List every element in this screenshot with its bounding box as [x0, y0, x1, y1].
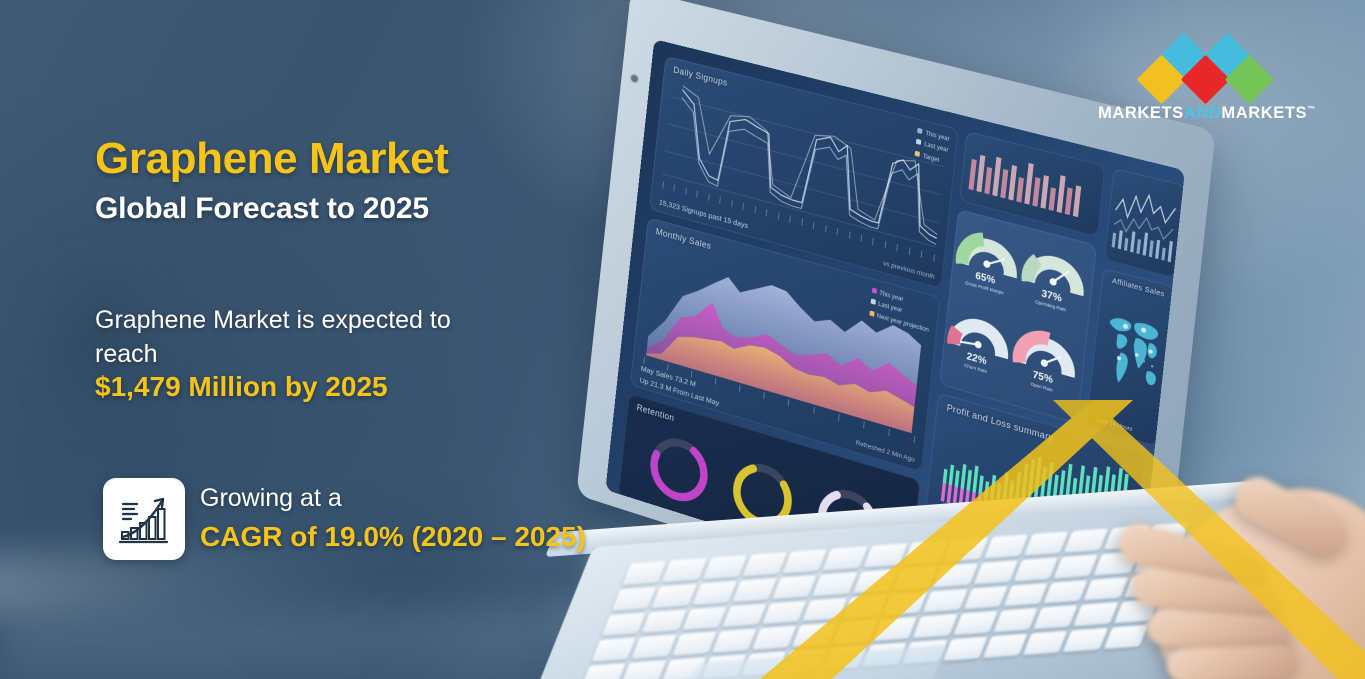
panel-gauges: 65% Gross Profit Margin 37% Operating Ra…	[939, 209, 1097, 424]
cagr-lead-text: Growing at a	[200, 484, 342, 513]
logo-trademark: ™	[1307, 105, 1316, 114]
logo-diamonds	[1136, 40, 1276, 102]
logo-word-2: MARKETS	[1221, 104, 1307, 122]
company-logo[interactable]: MARKETSANDMARKETS™	[1098, 40, 1313, 132]
cagr-value-text: CAGR of 19.0% (2020 – 2025)	[200, 521, 586, 553]
logo-connector: AND	[1184, 104, 1222, 122]
gauge-cluster: 65% Gross Profit Margin 37% Operating Ra…	[939, 209, 1097, 424]
cagr-block: Growing at a CAGR of 19.0% (2020 – 2025)	[103, 478, 703, 566]
page-title: Graphene Market	[95, 134, 448, 184]
panel-title: Affiliates Sales	[1112, 278, 1165, 299]
logo-word-1: MARKETS	[1098, 104, 1184, 122]
panel-footer: Last 24 Hours	[1097, 417, 1133, 433]
world-map-icon	[1096, 296, 1167, 410]
market-statement: Graphene Market is expected to reach	[95, 303, 515, 371]
marketing-banner: Daily Signups This year Last year Target	[0, 0, 1365, 679]
logo-wordmark: MARKETSANDMARKETS™	[1098, 104, 1313, 123]
growth-chart-glyph	[115, 490, 173, 548]
growth-chart-icon	[103, 478, 185, 560]
sparkline-chart	[1104, 168, 1185, 279]
content-block: Graphene Market Global Forecast to 2025 …	[95, 0, 715, 679]
page-subtitle: Global Forecast to 2025	[95, 192, 429, 226]
hand-typing	[1035, 435, 1365, 679]
market-value: $1,479 Million by 2025	[95, 371, 388, 403]
panel-sparkline	[1104, 168, 1185, 279]
